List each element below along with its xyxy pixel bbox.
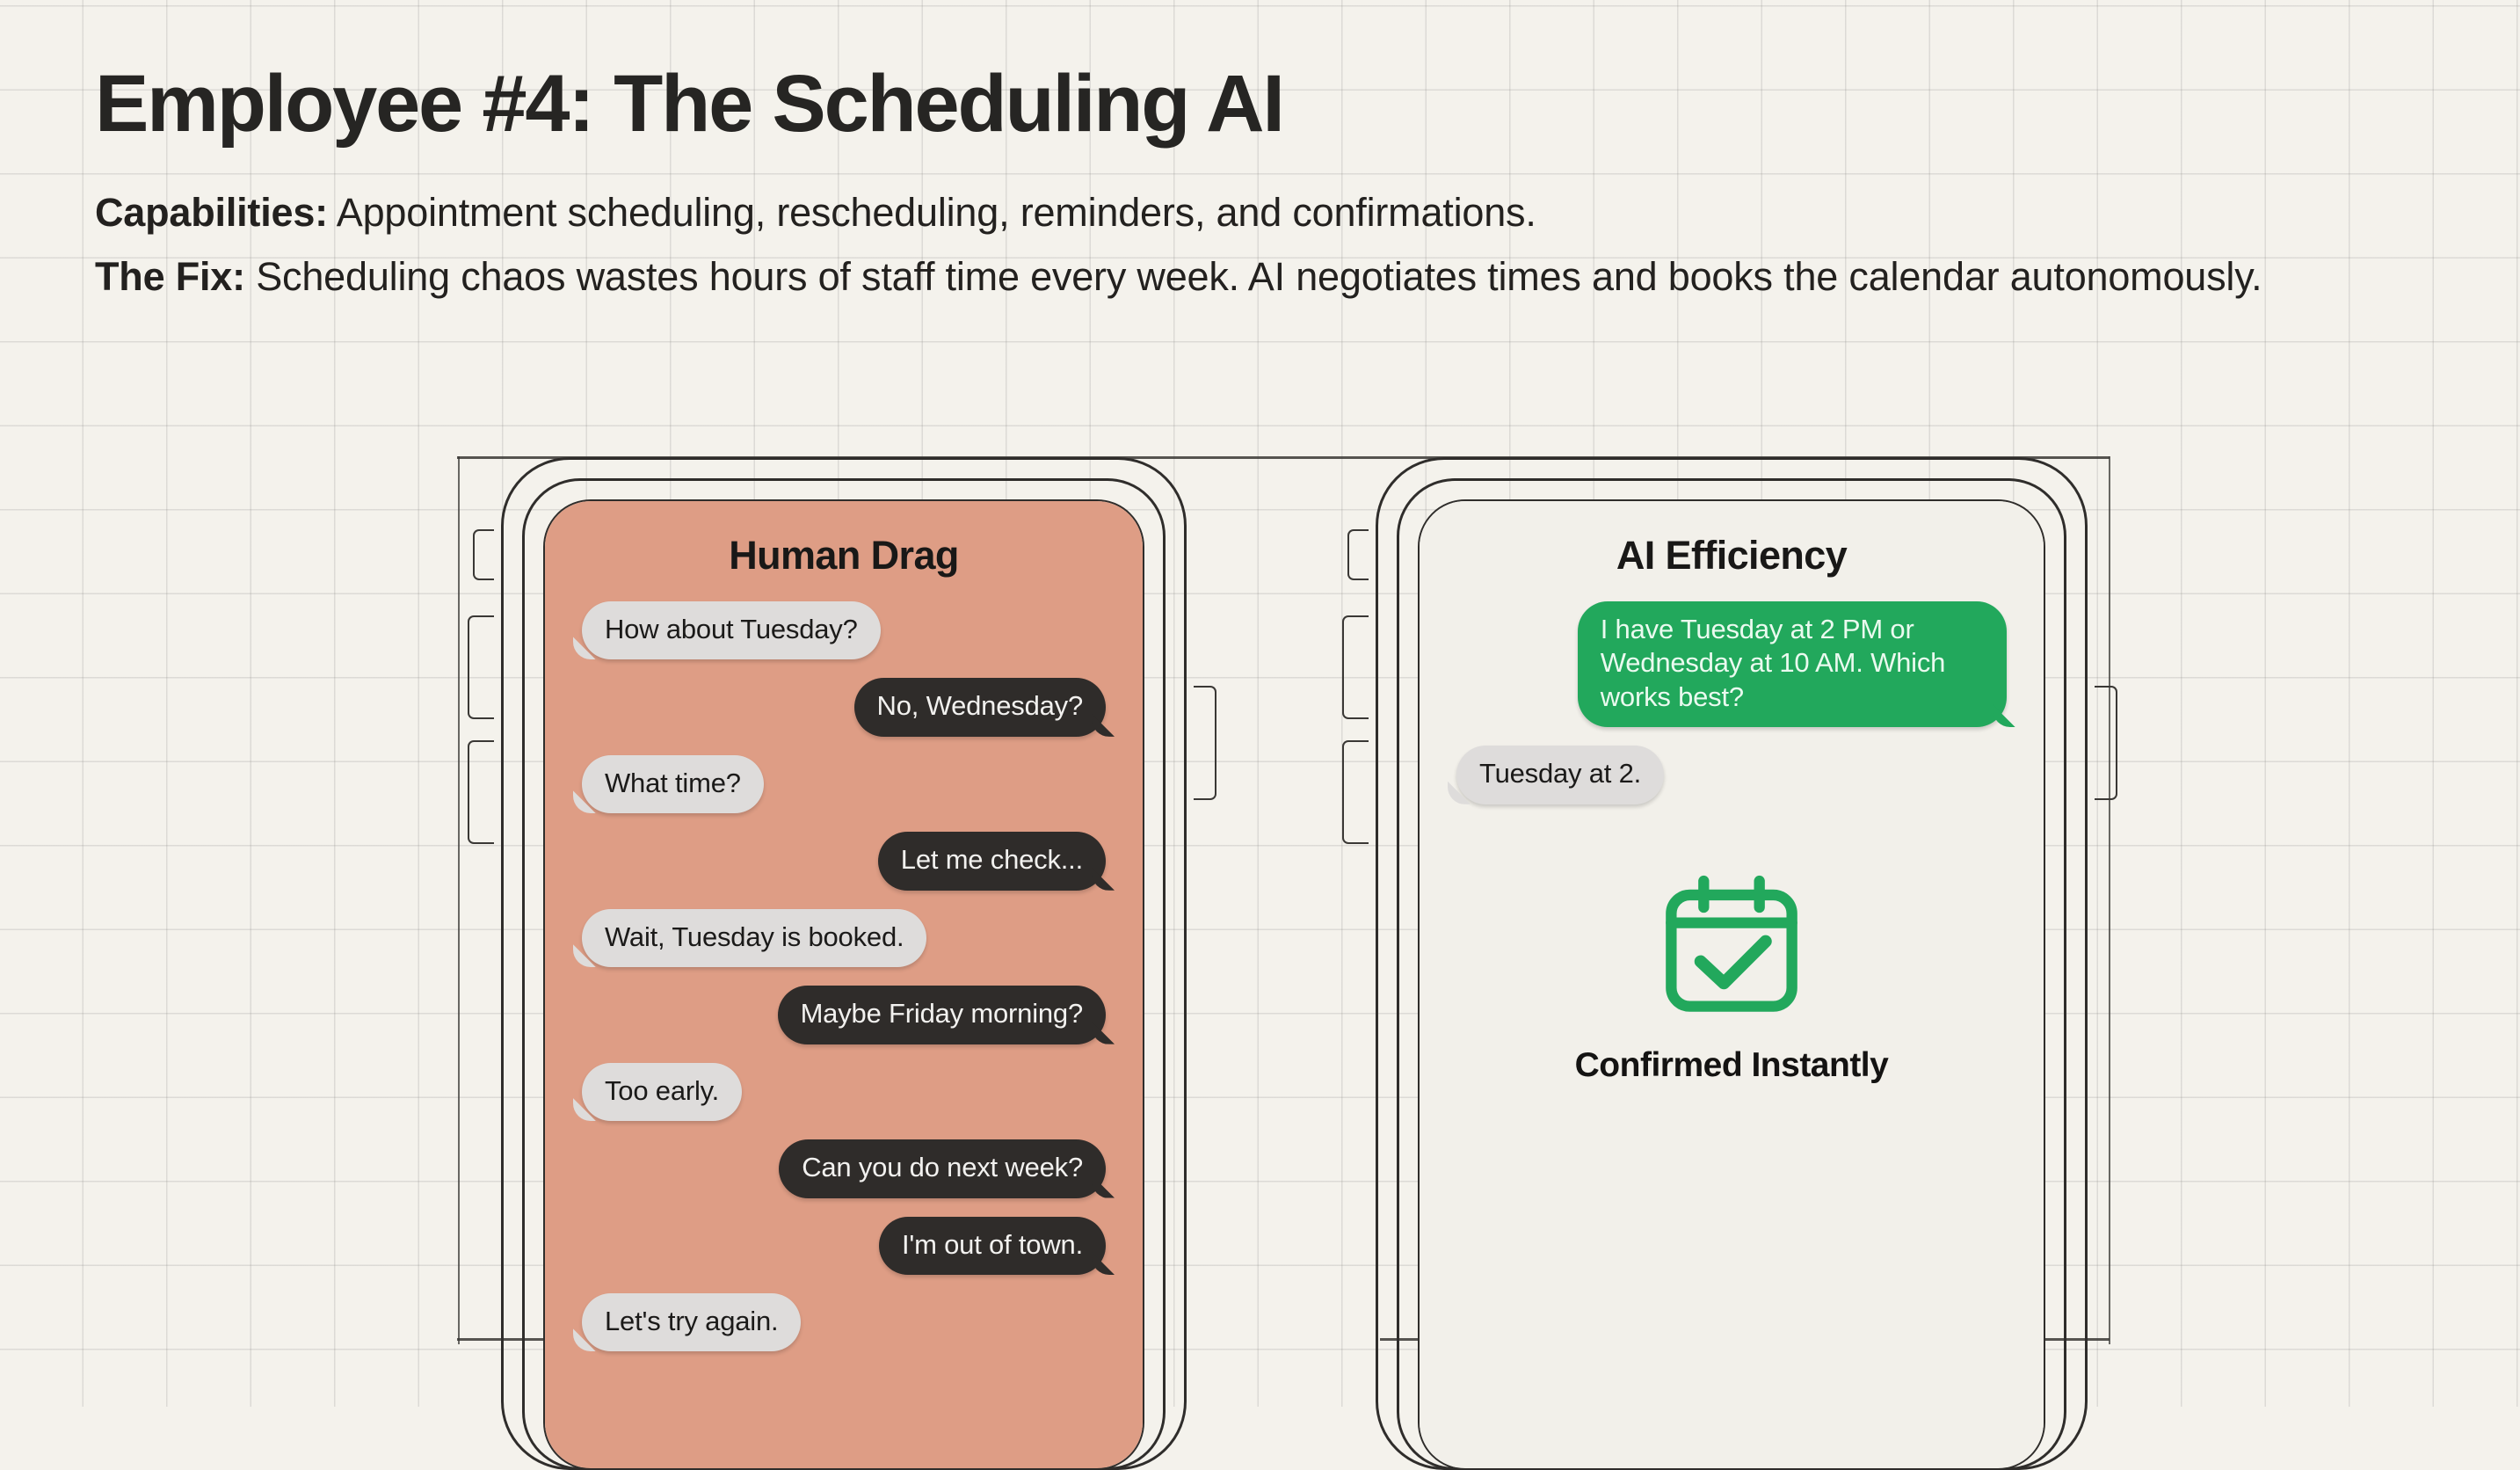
panel-title-ai: AI Efficiency [1456, 533, 2007, 579]
header-block: Employee #4: The Scheduling AI Capabilit… [95, 63, 2468, 303]
chat-bubble[interactable]: No, Wednesday? [854, 678, 1106, 736]
screen-content-ai: AI Efficiency I have Tuesday at 2 PM or … [1420, 501, 2044, 1468]
calendar-check-icon [1654, 869, 1809, 1023]
phone-screen-human: Human Drag How about Tuesday?No, Wednesd… [543, 499, 1144, 1470]
capabilities-line: Capabilities: Appointment scheduling, re… [95, 186, 2468, 239]
volume-up-button[interactable] [1342, 615, 1369, 719]
chat-bubble[interactable]: What time? [582, 755, 764, 813]
power-button[interactable] [2095, 686, 2117, 800]
capabilities-text: Appointment scheduling, rescheduling, re… [328, 190, 1536, 235]
guide-line-vertical-right [2109, 456, 2110, 1344]
chat-row: Wait, Tuesday is booked. [582, 909, 1106, 967]
chat-row: Too early. [582, 1063, 1106, 1121]
power-button[interactable] [1194, 686, 1216, 800]
confirm-label: Confirmed Instantly [1575, 1046, 1889, 1085]
chat-row: Let's try again. [582, 1293, 1106, 1351]
chat-thread-human: How about Tuesday?No, Wednesday?What tim… [582, 601, 1106, 1370]
chat-bubble[interactable]: Too early. [582, 1063, 742, 1121]
chat-row: What time? [582, 755, 1106, 813]
silent-switch-button[interactable] [473, 529, 494, 580]
chat-row: No, Wednesday? [582, 678, 1106, 736]
page-title: Employee #4: The Scheduling AI [95, 63, 2468, 146]
chat-row: I have Tuesday at 2 PM or Wednesday at 1… [1456, 601, 2007, 727]
volume-down-button[interactable] [1342, 740, 1369, 844]
fix-line: The Fix: Scheduling chaos wastes hours o… [95, 250, 2380, 303]
fix-text: Scheduling chaos wastes hours of staff t… [245, 254, 2262, 299]
panel-title-human: Human Drag [582, 533, 1106, 579]
phone-ai: AI Efficiency I have Tuesday at 2 PM or … [1367, 450, 2096, 1435]
chat-row: Maybe Friday morning? [582, 986, 1106, 1044]
silent-switch-button[interactable] [1347, 529, 1369, 580]
guide-line-vertical-left [458, 456, 460, 1344]
chat-row: Tuesday at 2. [1456, 746, 2007, 804]
chat-bubble[interactable]: How about Tuesday? [582, 601, 881, 659]
chat-bubble[interactable]: Wait, Tuesday is booked. [582, 909, 926, 967]
chat-row: Let me check... [582, 832, 1106, 890]
volume-down-button[interactable] [468, 740, 494, 844]
chat-row: Can you do next week? [582, 1139, 1106, 1197]
volume-up-button[interactable] [468, 615, 494, 719]
chat-bubble[interactable]: I have Tuesday at 2 PM or Wednesday at 1… [1578, 601, 2007, 727]
chat-bubble[interactable]: Tuesday at 2. [1456, 746, 1664, 804]
chat-bubble[interactable]: Can you do next week? [779, 1139, 1106, 1197]
chat-bubble[interactable]: Let's try again. [582, 1293, 801, 1351]
phone-screen-ai: AI Efficiency I have Tuesday at 2 PM or … [1418, 499, 2045, 1470]
chat-bubble[interactable]: Maybe Friday morning? [778, 986, 1106, 1044]
fix-label: The Fix: [95, 254, 245, 299]
chat-bubble[interactable]: Let me check... [878, 832, 1106, 890]
phone-human: Human Drag How about Tuesday?No, Wednesd… [492, 450, 1195, 1435]
capabilities-label: Capabilities: [95, 190, 328, 235]
confirmation-block: Confirmed Instantly [1456, 869, 2007, 1085]
chat-bubble[interactable]: I'm out of town. [879, 1217, 1106, 1275]
chat-row: How about Tuesday? [582, 601, 1106, 659]
screen-content-human: Human Drag How about Tuesday?No, Wednesd… [545, 501, 1143, 1468]
chat-row: I'm out of town. [582, 1217, 1106, 1275]
chat-thread-ai: I have Tuesday at 2 PM or Wednesday at 1… [1456, 601, 2007, 823]
